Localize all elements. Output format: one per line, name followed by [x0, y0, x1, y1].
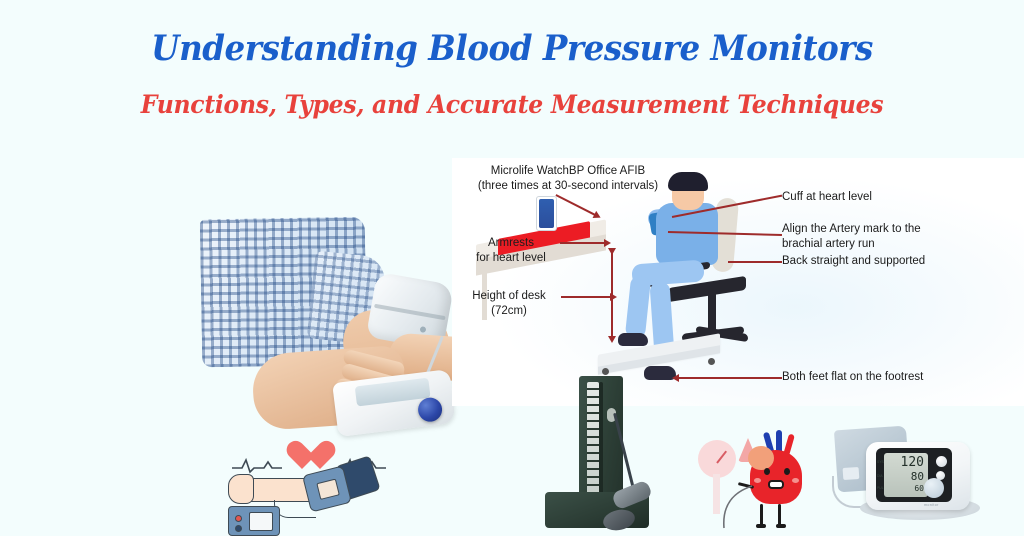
diagram-person-hair [668, 172, 708, 191]
illustration-heart-character [696, 428, 814, 536]
heart-icon [286, 442, 320, 473]
photo-person-using-monitor [193, 216, 488, 448]
annotation-feet-flat: Both feet flat on the footrest [782, 370, 923, 385]
memory-button[interactable] [936, 456, 947, 467]
annotation-desk-height: Height of desk (72cm) [457, 289, 561, 318]
diastolic-unit-label: DIA [877, 474, 883, 478]
illustration-arm-with-cuff [228, 432, 408, 536]
illustration-monitor-button[interactable] [235, 525, 242, 532]
footrest-wheel [708, 358, 715, 365]
arrowhead-desk-height-up [608, 248, 616, 255]
lead-line-feet-flat [676, 377, 782, 379]
illustration-monitor-button[interactable] [235, 515, 242, 522]
gauge-hose [718, 484, 754, 530]
pulse-reading: 60 [914, 485, 924, 493]
lead-line-desk-height-upper [611, 253, 613, 297]
annotation-device-model: Microlife WatchBP Office AFIB (three tim… [468, 164, 668, 193]
annotation-artery-align: Align the Artery mark to the brachial ar… [782, 222, 921, 251]
pulse-unit-label: PUL [877, 486, 884, 490]
heart-cheek [754, 478, 761, 483]
annotation-armrests: Armrests for heart level [462, 236, 560, 265]
heart-foot [776, 524, 786, 528]
arrowhead-desk-height-down [608, 336, 616, 343]
cuff-band [374, 304, 446, 320]
systolic-reading: 120 [901, 456, 924, 469]
mercury-sphygmomanometer [527, 368, 679, 536]
ecg-line-icon [232, 456, 282, 474]
digital-blood-pressure-monitor: 120 SYS 80 DIA 60 PUL monitor [824, 424, 1010, 536]
illustration-tube [274, 500, 316, 518]
watchbp-device-screen [539, 199, 554, 228]
start-stop-button[interactable] [924, 478, 944, 498]
cuff-connector [420, 326, 427, 333]
heart-leg [760, 504, 763, 526]
lead-line-desk-height-lower [611, 296, 613, 338]
sphyg-scale [587, 382, 599, 494]
page-title: Understanding Blood Pressure Monitors [36, 28, 988, 69]
heart-cheek [792, 478, 799, 483]
lead-line-desk-height [561, 296, 612, 298]
monitor-brand-label: monitor [924, 503, 939, 507]
heart-eye [764, 468, 770, 475]
poster-root: Understanding Blood Pressure Monitors Fu… [0, 0, 1024, 536]
digital-monitor-body: 120 SYS 80 DIA 60 PUL monitor [866, 442, 970, 510]
systolic-unit-label: SYS [877, 460, 884, 464]
arrowhead-armrests [604, 239, 611, 247]
illustration-hand [228, 474, 254, 504]
gauge-dial-icon [698, 440, 736, 478]
heart-leg [778, 504, 781, 526]
diastolic-reading: 80 [911, 471, 924, 482]
digital-monitor-lcd: 120 SYS 80 DIA 60 PUL [884, 453, 928, 497]
heart-foot [756, 524, 766, 528]
digital-monitor-tube [832, 476, 866, 508]
annotation-back-support: Back straight and supported [782, 254, 925, 269]
illustration-monitor [228, 506, 280, 536]
watchbp-device [536, 196, 557, 231]
sphyg-column-housing [579, 376, 623, 498]
heart-lobe [748, 446, 774, 470]
heart-mouth [768, 480, 784, 489]
lead-line-armrests [560, 242, 606, 244]
page-subtitle: Functions, Types, and Accurate Measureme… [31, 90, 994, 119]
heart-eye [784, 468, 790, 475]
lead-line-back-support [728, 261, 782, 263]
illustration-cuff-label [316, 479, 340, 500]
monitor-knob [417, 396, 444, 423]
diagram-person-shoe [618, 333, 648, 346]
illustration-monitor-screen [249, 512, 273, 531]
annotation-cuff-level: Cuff at heart level [782, 190, 872, 205]
sphyg-mercury-tube [599, 382, 603, 496]
